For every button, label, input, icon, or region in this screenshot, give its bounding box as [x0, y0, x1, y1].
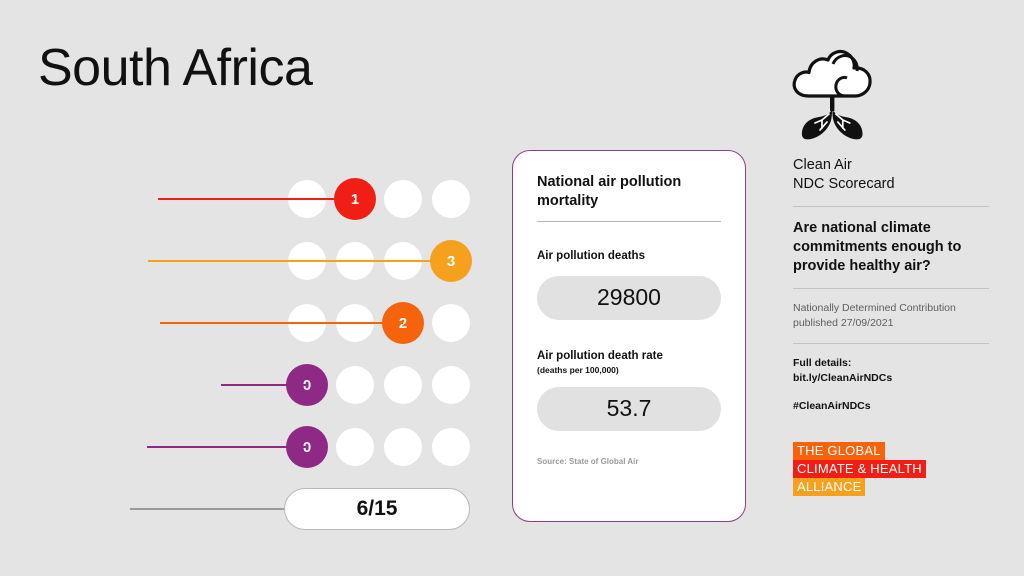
mortality-card-divider [537, 221, 721, 222]
score-row: Health impacts1 [38, 168, 470, 230]
score-dot-empty [384, 180, 422, 218]
alliance-logo-line-1: THE GLOBAL [793, 442, 885, 460]
full-details: Full details: bit.ly/CleanAirNDCs [793, 356, 989, 386]
scorecard-panel: Health impacts1Air pollutants3Source sec… [38, 168, 470, 540]
mortality-card-title: National air pollution mortality [537, 173, 721, 210]
metric-air-pollution-death-rate: Air pollution death rate (deaths per 100… [537, 350, 721, 431]
right-panel: Clean Air NDC Scorecard Are national cli… [793, 44, 989, 496]
mortality-card-source: Source: State of Global Air [537, 457, 721, 466]
score-dot-empty [384, 366, 422, 404]
score-dot-empty [336, 366, 374, 404]
connector-mask [38, 188, 158, 210]
score-dot-empty [432, 180, 470, 218]
score-dot-empty [384, 428, 422, 466]
ndc-publication-note: Nationally Determined Contribution publi… [793, 301, 989, 331]
campaign-hashtag: #CleanAirNDCs [793, 400, 989, 412]
total-score-value: 6/15 [284, 488, 470, 530]
score-row: Air pollutants3 [38, 230, 470, 292]
full-details-label: Full details: [793, 357, 851, 369]
panel-divider-1 [793, 206, 989, 207]
deaths-label: Air pollution deaths [537, 250, 721, 264]
score-dots: 0 [286, 364, 470, 406]
death-rate-label: Air pollution death rate [537, 350, 721, 364]
panel-divider-2 [793, 288, 989, 289]
panel-question: Are national climate commitments enough … [793, 219, 989, 276]
score-row: Bonus points0 [38, 416, 470, 478]
score-row: Source sectors2 [38, 292, 470, 354]
score-dot-empty [432, 366, 470, 404]
page-title: South Africa [38, 42, 312, 94]
alliance-logo: THE GLOBAL CLIMATE & HEALTH ALLIANCE [793, 442, 989, 496]
connector-mask [38, 436, 147, 458]
score-dots: 0 [286, 426, 470, 468]
score-dot-empty [432, 304, 470, 342]
death-rate-value: 53.7 [537, 387, 721, 431]
brand-name: Clean Air NDC Scorecard [793, 156, 989, 194]
cloud-lungs-icon [789, 44, 875, 140]
score-rows: Health impacts1Air pollutants3Source sec… [38, 168, 470, 478]
panel-divider-3 [793, 343, 989, 344]
brand-line-1: Clean Air [793, 157, 852, 173]
metric-air-pollution-deaths: Air pollution deaths 29800 [537, 250, 721, 320]
alliance-logo-line-2: CLIMATE & HEALTH [793, 460, 926, 478]
score-dot-empty [336, 428, 374, 466]
score-row: Economics and finance0 [38, 354, 470, 416]
connector-mask [38, 498, 130, 520]
connector-mask [38, 374, 221, 396]
score-dot-empty [432, 428, 470, 466]
death-rate-sublabel: (deaths per 100,000) [537, 365, 721, 375]
deaths-value: 29800 [537, 276, 721, 320]
alliance-logo-line-3: ALLIANCE [793, 478, 865, 496]
mortality-card: National air pollution mortality Air pol… [512, 150, 746, 522]
brand-line-2: NDC Scorecard [793, 176, 895, 192]
connector-mask [38, 250, 148, 272]
full-details-url[interactable]: bit.ly/CleanAirNDCs [793, 372, 892, 384]
total-score-row: Total score 6/15 [38, 478, 470, 540]
connector-mask [38, 312, 160, 334]
